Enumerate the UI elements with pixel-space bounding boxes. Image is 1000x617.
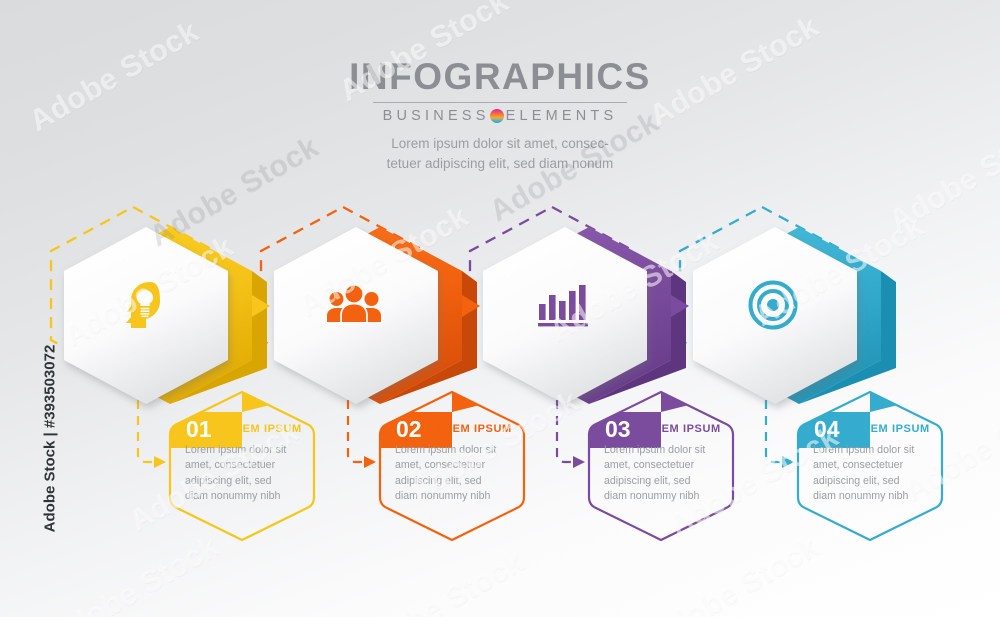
card-body-line: adipiscing elit, sed (813, 474, 931, 489)
card-body-line: adipiscing elit, sed (604, 474, 722, 489)
card-body-line: diam nonummy nibh (813, 489, 931, 504)
card-label-4: LOREM IPSUM (846, 424, 930, 435)
card-body-line: Lorem ipsum dolor sit (395, 443, 513, 458)
card-body-line: diam nonummy nibh (185, 489, 303, 504)
card-body-line: amet, consectetuer (185, 458, 303, 473)
card-head-1: 01 LOREM IPSUM (179, 416, 304, 442)
card-body-line: adipiscing elit, sed (395, 474, 513, 489)
card-body-line: adipiscing elit, sed (185, 474, 303, 489)
subtitle-left: BUSINESS (383, 108, 490, 124)
step-card-2[interactable]: 02 LOREM IPSUM Lorem ipsum dolor sit ame… (376, 390, 528, 542)
card-body-4: Lorem ipsum dolor sit amet, consectetuer… (813, 443, 931, 505)
card-body-line: amet, consectetuer (604, 458, 722, 473)
card-body-3: Lorem ipsum dolor sit amet, consectetuer… (604, 443, 722, 505)
step-card-3[interactable]: 03 LOREM IPSUM Lorem ipsum dolor sit ame… (585, 390, 737, 542)
card-body-1: Lorem ipsum dolor sit amet, consectetuer… (185, 443, 303, 505)
card-body-line: diam nonummy nibh (604, 489, 722, 504)
card-body-line: diam nonummy nibh (395, 489, 513, 504)
card-number-3: 03 (598, 418, 631, 441)
stock-credit-label: Adobe Stock | #393503072 (42, 329, 59, 549)
page-title: INFOGRAPHICS (0, 58, 1000, 95)
lede-line-2: tetuer adipiscing elit, sed diam nonum (0, 154, 1000, 174)
card-body-line: amet, consectetuer (395, 458, 513, 473)
header-lede: Lorem ipsum dolor sit amet, consec- tetu… (0, 134, 1000, 173)
step-card-1[interactable]: 01 LOREM IPSUM Lorem ipsum dolor sit ame… (166, 390, 318, 542)
card-number-2: 02 (389, 418, 422, 441)
header-block: INFOGRAPHICS BUSINESS ELEMENTS Lorem ips… (0, 58, 1000, 173)
card-body-2: Lorem ipsum dolor sit amet, consectetuer… (395, 443, 513, 505)
card-head-3: 03 LOREM IPSUM (598, 416, 723, 442)
infographic-canvas: INFOGRAPHICS BUSINESS ELEMENTS Lorem ips… (0, 0, 1000, 617)
card-label-3: LOREM IPSUM (637, 424, 721, 435)
card-head-4: 04 LOREM IPSUM (807, 416, 932, 442)
subtitle-right: ELEMENTS (506, 108, 618, 124)
subtitle-row: BUSINESS ELEMENTS (373, 102, 627, 124)
card-label-2: LOREM IPSUM (428, 424, 512, 435)
lede-line-1: Lorem ipsum dolor sit amet, consec- (0, 134, 1000, 154)
card-body-line: Lorem ipsum dolor sit (604, 443, 722, 458)
card-body-line: Lorem ipsum dolor sit (813, 443, 931, 458)
card-body-line: amet, consectetuer (813, 458, 931, 473)
card-body-line: Lorem ipsum dolor sit (185, 443, 303, 458)
card-head-2: 02 LOREM IPSUM (389, 416, 514, 442)
card-label-1: LOREM IPSUM (218, 424, 302, 435)
card-number-1: 01 (179, 418, 212, 441)
gradient-circle-logo-icon (490, 109, 504, 123)
card-number-4: 04 (807, 418, 840, 441)
step-card-4[interactable]: 04 LOREM IPSUM Lorem ipsum dolor sit ame… (794, 390, 946, 542)
